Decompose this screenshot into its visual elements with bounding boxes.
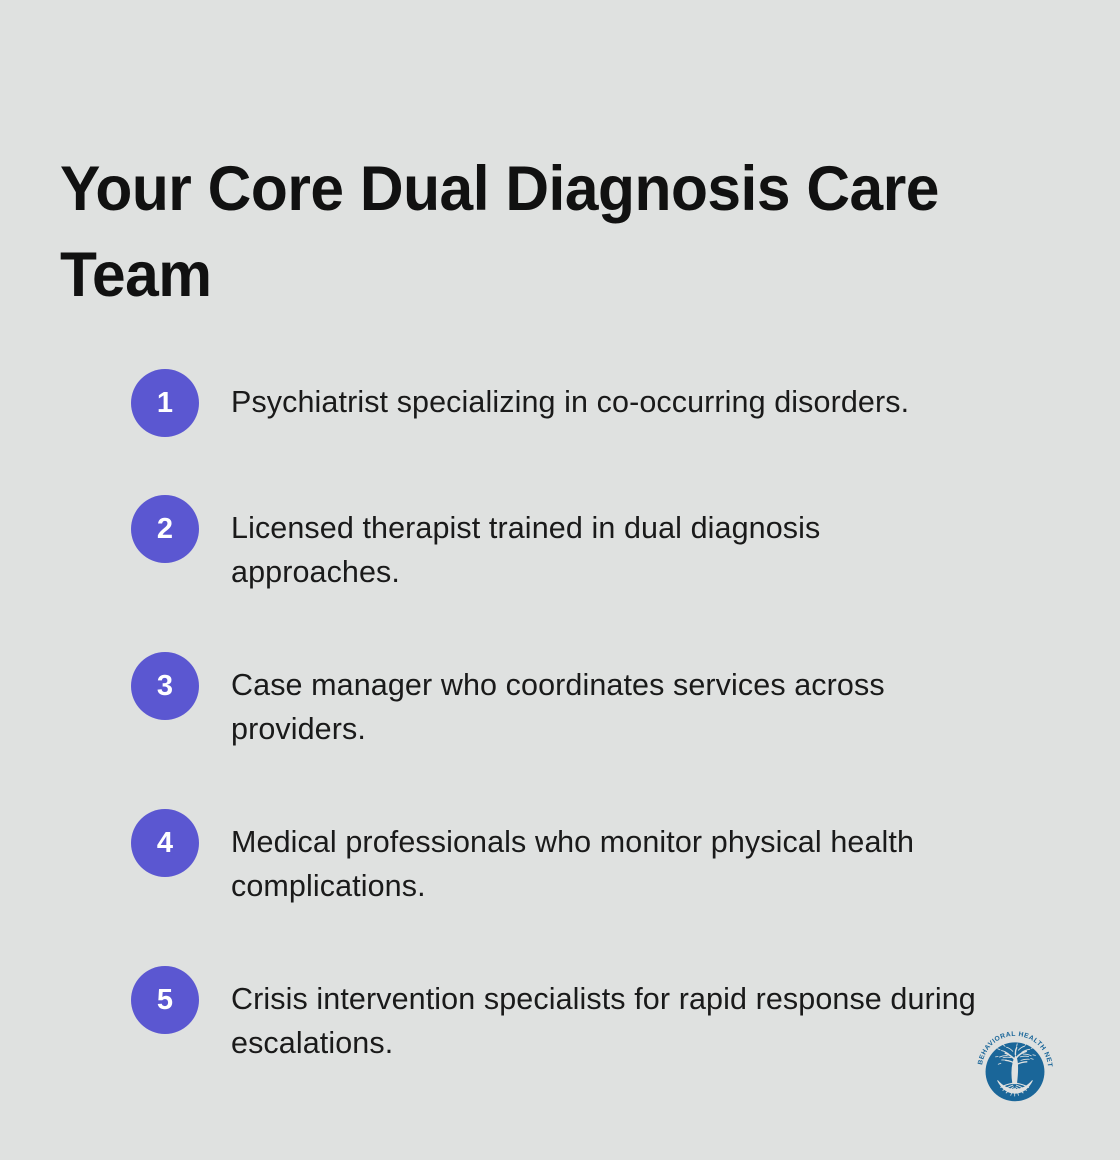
list-item: 3 Case manager who coordinates services … [131,651,1031,751]
list-item: 2 Licensed therapist trained in dual dia… [131,494,1031,594]
list-item-number-badge: 3 [131,652,199,720]
list-item-number-badge: 5 [131,966,199,1034]
list-item: 4 Medical professionals who monitor phys… [131,808,1031,908]
list-item-number: 1 [157,389,173,418]
list-item-label: Licensed therapist trained in dual diagn… [231,494,993,594]
list-item-label: Case manager who coordinates services ac… [231,651,993,751]
list-item-label: Medical professionals who monitor physic… [231,808,993,908]
list-item-number-badge: 1 [131,369,199,437]
list-item-number: 2 [157,515,173,544]
list-item-number-badge: 2 [131,495,199,563]
list-item-number: 5 [157,986,173,1015]
list-item-label: Psychiatrist specializing in co-occurrin… [231,368,909,424]
list-item-label: Crisis intervention specialists for rapi… [231,965,993,1065]
amity-behavioral-health-network-logo: AMITY BEHAVIORAL HEALTH NETWORK [969,1023,1061,1115]
list-item: 5 Crisis intervention specialists for ra… [131,965,1031,1065]
list-item-number: 3 [157,672,173,701]
list-item-number: 4 [157,829,173,858]
care-team-list: 1 Psychiatrist specializing in co-occurr… [131,368,1031,1065]
infographic-canvas: Your Core Dual Diagnosis Care Team 1 Psy… [0,0,1120,1160]
page-title: Your Core Dual Diagnosis Care Team [60,146,1006,318]
list-item-number-badge: 4 [131,809,199,877]
list-item: 1 Psychiatrist specializing in co-occurr… [131,368,1031,437]
